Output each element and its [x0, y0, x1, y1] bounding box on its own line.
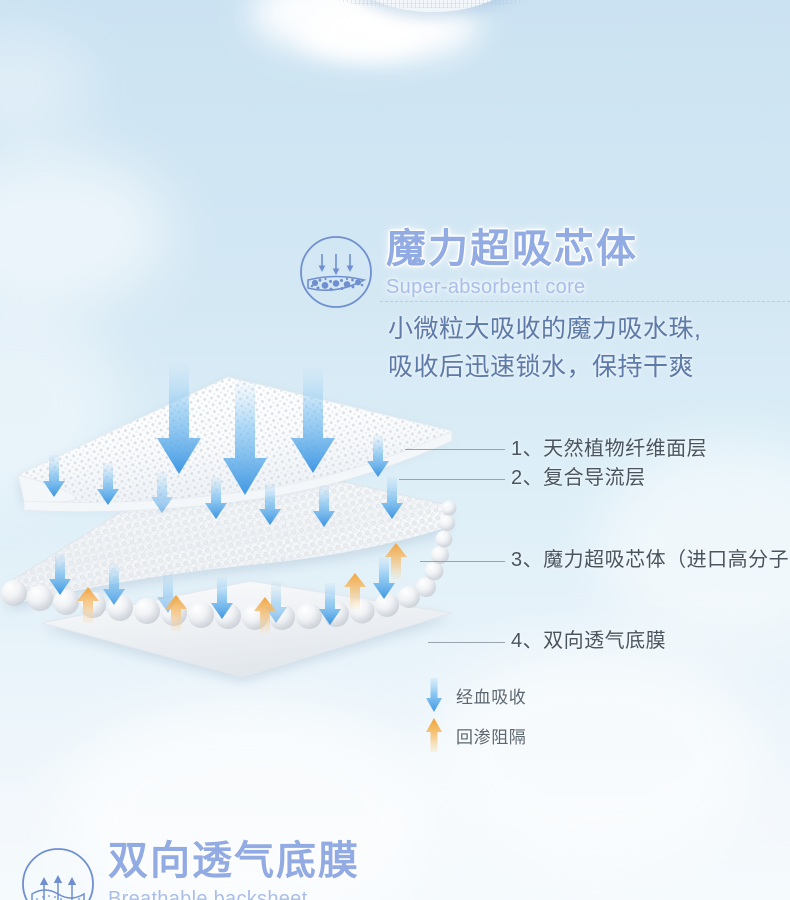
cloud-decoration	[430, 640, 760, 870]
callout-4-index: 4、	[511, 630, 543, 652]
section-header-backsheet: 双向透气底膜 Breathable backsheet	[18, 838, 360, 900]
callout-2-index: 2、	[511, 467, 543, 489]
section-title-core: 魔力超吸芯体	[386, 226, 638, 272]
callout-leader-line	[420, 561, 505, 562]
callout-2-label: 复合导流层	[543, 467, 646, 489]
legend-label-rebound: 回渗阻隔	[456, 723, 526, 748]
up-arrow-icon	[425, 718, 443, 752]
down-arrow-icon	[425, 678, 443, 712]
callout-4: 4、双向透气底膜	[511, 629, 666, 653]
large-absorb-arrow	[290, 368, 336, 473]
legend-item-absorb: 经血吸收	[425, 678, 526, 712]
callout-1-index: 1、	[511, 438, 543, 460]
section-subtitle-core: Super-absorbent core	[386, 274, 638, 300]
legend-item-rebound: 回渗阻隔	[425, 718, 526, 752]
cloud-decoration	[300, 12, 420, 58]
absorbent-core-icon	[296, 232, 376, 312]
legend-label-absorb: 经血吸收	[456, 683, 526, 708]
callout-4-label: 双向透气底膜	[543, 630, 666, 652]
callout-1-label: 天然植物纤维面层	[543, 438, 707, 460]
callout-3: 3、魔力超吸芯体（进口高分子）	[511, 548, 790, 572]
section-header-core: 魔力超吸芯体 Super-absorbent core	[296, 226, 638, 312]
breathable-backsheet-icon	[18, 844, 98, 900]
callout-leader-line	[399, 479, 505, 480]
callout-3-label: 魔力超吸芯体（进口高分子）	[543, 549, 790, 571]
large-absorb-arrow	[156, 364, 202, 474]
callout-leader-line	[428, 642, 505, 643]
callout-3-index: 3、	[511, 549, 543, 571]
large-absorb-arrow	[222, 380, 268, 495]
page-root: 魔力超吸芯体 Super-absorbent core 小微粒大吸收的魔力吸水珠…	[0, 0, 790, 900]
core-description-line-1: 小微粒大吸收的魔力吸水珠,	[388, 310, 788, 348]
callout-1: 1、天然植物纤维面层	[511, 437, 707, 461]
section-title-backsheet: 双向透气底膜	[108, 838, 360, 884]
dashed-divider	[380, 301, 790, 302]
callout-2: 2、复合导流层	[511, 466, 646, 490]
section-subtitle-backsheet: Breathable backsheet	[108, 886, 360, 900]
callout-leader-line	[405, 449, 505, 450]
